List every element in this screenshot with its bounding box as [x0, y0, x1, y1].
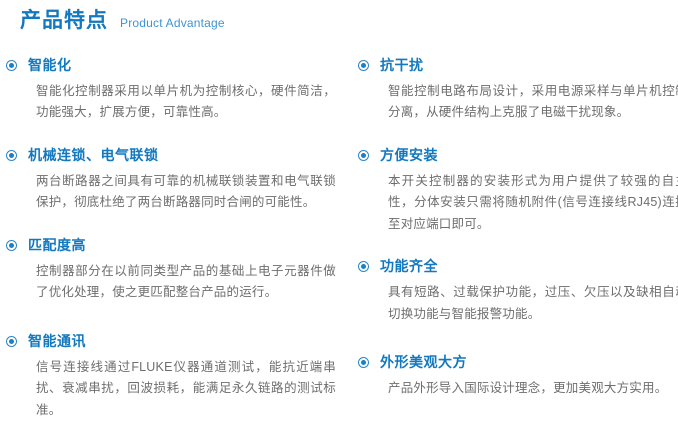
feature-description: 控制器部分在以前同类型产品的基础上电子元器件做了优化处理，使之更匹配整台产品的运… [28, 261, 336, 304]
radio-dot-icon [358, 261, 369, 272]
product-advantage-page: 产品特点 Product Advantage 智能化 智能化控制器采用以单片机为… [0, 0, 678, 410]
feature-description: 两台断路器之间具有可靠的机械联锁装置和电气联锁保护，彻底杜绝了两台断路器同时合闸… [28, 171, 336, 214]
feature-description: 智能控制电路布局设计，采用电源采样与单片机控制分离，从硬件结构上克服了电磁干扰现… [380, 81, 678, 124]
page-subtitle: Product Advantage [120, 16, 225, 30]
feature-item: 功能齐全 具有短路、过载保护功能，过压、欠压以及缺相自动切换功能与智能报警功能。 [358, 257, 678, 325]
feature-item: 机械连锁、电气联锁 两台断路器之间具有可靠的机械联锁装置和电气联锁保护，彻底杜绝… [6, 146, 336, 214]
radio-dot-icon [358, 60, 369, 71]
features-column-right: 抗干扰 智能控制电路布局设计，采用电源采样与单片机控制分离，从硬件结构上克服了电… [358, 56, 678, 400]
feature-description: 本开关控制器的安装形式为用户提供了较强的自主性，分体安装只需将随机附件(信号连接… [380, 171, 678, 236]
radio-dot-icon [6, 240, 17, 251]
radio-dot-icon [358, 357, 369, 368]
feature-title: 机械连锁、电气联锁 [28, 146, 336, 165]
feature-description: 智能化控制器采用以单片机为控制核心，硬件简洁，功能强大，扩展方便，可靠性高。 [28, 81, 336, 124]
feature-title: 外形美观大方 [380, 353, 678, 372]
feature-title: 功能齐全 [380, 257, 678, 276]
feature-item: 智能通讯 信号连接线通过FLUKE仪器通道测试，能抗近端串扰、衰减串扰，回波损耗… [6, 332, 336, 421]
feature-item: 外形美观大方 产品外形导入国际设计理念，更加美观大方实用。 [358, 353, 678, 399]
feature-description: 产品外形导入国际设计理念，更加美观大方实用。 [380, 378, 678, 400]
radio-dot-icon [6, 60, 17, 71]
radio-dot-icon [358, 150, 369, 161]
feature-title: 抗干扰 [380, 56, 678, 75]
feature-title: 智能通讯 [28, 332, 336, 351]
feature-item: 匹配度高 控制器部分在以前同类型产品的基础上电子元器件做了优化处理，使之更匹配整… [6, 236, 336, 304]
section-header: 产品特点 Product Advantage [20, 8, 225, 33]
radio-dot-icon [6, 150, 17, 161]
feature-title: 智能化 [28, 56, 336, 75]
feature-item: 方便安装 本开关控制器的安装形式为用户提供了较强的自主性，分体安装只需将随机附件… [358, 146, 678, 235]
feature-description: 信号连接线通过FLUKE仪器通道测试，能抗近端串扰、衰减串扰，回波损耗，能满足永… [28, 357, 336, 421]
feature-item: 智能化 智能化控制器采用以单片机为控制核心，硬件简洁，功能强大，扩展方便，可靠性… [6, 56, 336, 124]
radio-dot-icon [6, 336, 17, 347]
page-title: 产品特点 [20, 8, 108, 33]
feature-description: 具有短路、过载保护功能，过压、欠压以及缺相自动切换功能与智能报警功能。 [380, 282, 678, 325]
feature-title: 匹配度高 [28, 236, 336, 255]
features-column-left: 智能化 智能化控制器采用以单片机为控制核心，硬件简洁，功能强大，扩展方便，可靠性… [6, 56, 336, 421]
feature-title: 方便安装 [380, 146, 678, 165]
feature-item: 抗干扰 智能控制电路布局设计，采用电源采样与单片机控制分离，从硬件结构上克服了电… [358, 56, 678, 124]
